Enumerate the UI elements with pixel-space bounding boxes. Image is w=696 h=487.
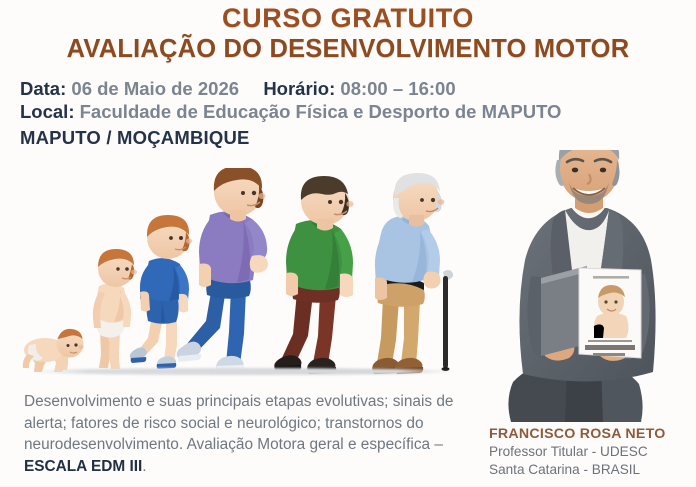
place-line: Local: Faculdade de Educação Física e De… [20, 100, 620, 123]
description-text: Desenvolvimento e suas principais etapas… [24, 393, 453, 453]
place-value: Faculdade de Educação Física e Desporto … [80, 101, 562, 122]
speaker-location: Santa Catarina - BRASIL [489, 461, 694, 479]
place-label: Local: [20, 101, 74, 122]
date-time-line: Data: 06 de Maio de 2026 Horário: 08:00 … [20, 77, 620, 100]
course-description: Desenvolvimento e suas principais etapas… [24, 391, 476, 477]
speaker-role: Professor Titular - UDESC [489, 443, 694, 461]
time-label: Horário: [263, 78, 335, 99]
date-label: Data: [20, 78, 66, 99]
ground-shadow [28, 368, 458, 375]
event-info-block: Data: 06 de Maio de 2026 Horário: 08:00 … [20, 77, 620, 150]
city-country-line: MAPUTO / MOÇAMBIQUE [20, 125, 620, 150]
time-value: 08:00 – 16:00 [340, 78, 455, 99]
figure-young-adult [177, 168, 268, 372]
figure-crawling-baby [23, 329, 84, 372]
poster-header: CURSO GRATUITO AVALIAÇÃO DO DESENVOLVIME… [0, 0, 696, 63]
speaker-photo-svg [487, 150, 687, 422]
poster-root: CURSO GRATUITO AVALIAÇÃO DO DESENVOLVIME… [0, 0, 696, 487]
figure-elderly-man [372, 173, 453, 374]
course-title-line1: CURSO GRATUITO [0, 4, 696, 32]
speaker-photo [487, 150, 687, 422]
figure-toddler [93, 249, 137, 369]
course-title-line2: AVALIAÇÃO DO DESENVOLVIMENTO MOTOR [0, 35, 696, 63]
figure-middle-aged-adult [274, 176, 353, 374]
speaker-name: FRANCISCO ROSA NETO [489, 426, 694, 443]
speaker-caption: FRANCISCO ROSA NETO Professor Titular - … [489, 426, 694, 479]
description-period: . [142, 458, 146, 475]
development-stages-illustration [0, 168, 486, 390]
date-value: 06 de Maio de 2026 [71, 78, 239, 99]
figure-child [130, 215, 192, 369]
stages-svg [0, 168, 486, 390]
scale-highlight: ESCALA EDM III [24, 458, 142, 475]
